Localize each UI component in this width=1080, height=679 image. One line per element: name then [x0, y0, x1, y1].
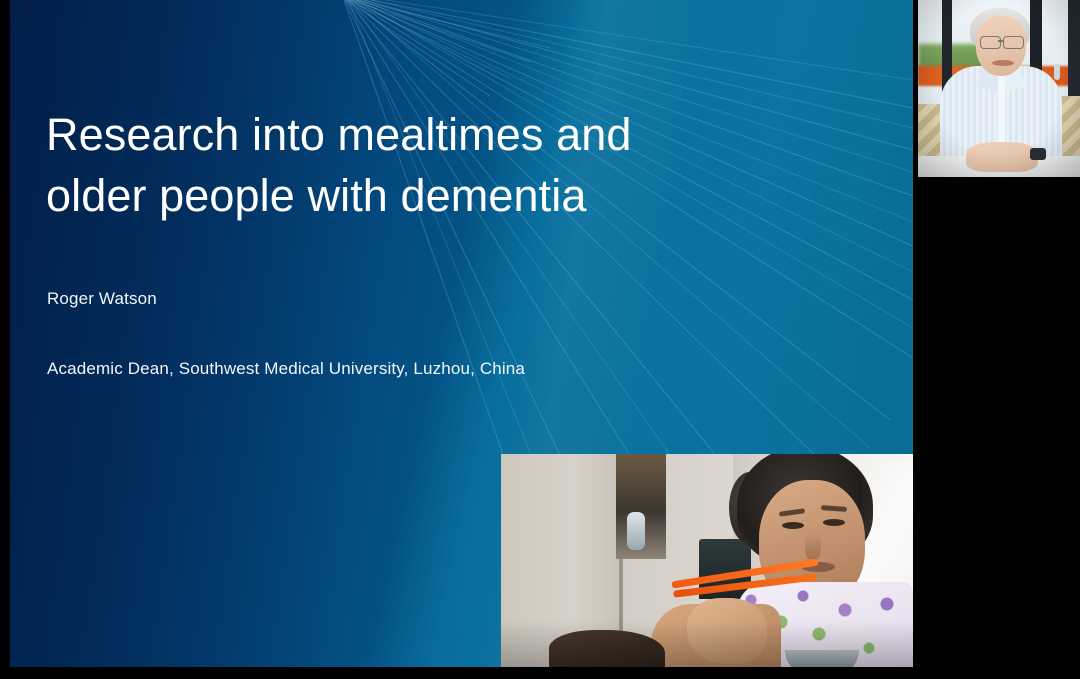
- photo-vignette: [501, 454, 913, 667]
- presentation-slide[interactable]: Research into mealtimes and older people…: [10, 0, 913, 667]
- slide-presenter-affiliation: Academic Dean, Southwest Medical Univers…: [47, 359, 525, 379]
- slide-photo-woman-eating: [501, 454, 913, 667]
- slide-title: Research into mealtimes and older people…: [46, 104, 766, 226]
- screen-share-view: Research into mealtimes and older people…: [0, 0, 1080, 679]
- webcam-vignette: [918, 0, 1080, 177]
- presenter-webcam-tile[interactable]: [918, 0, 1080, 177]
- slide-presenter-name: Roger Watson: [47, 289, 157, 309]
